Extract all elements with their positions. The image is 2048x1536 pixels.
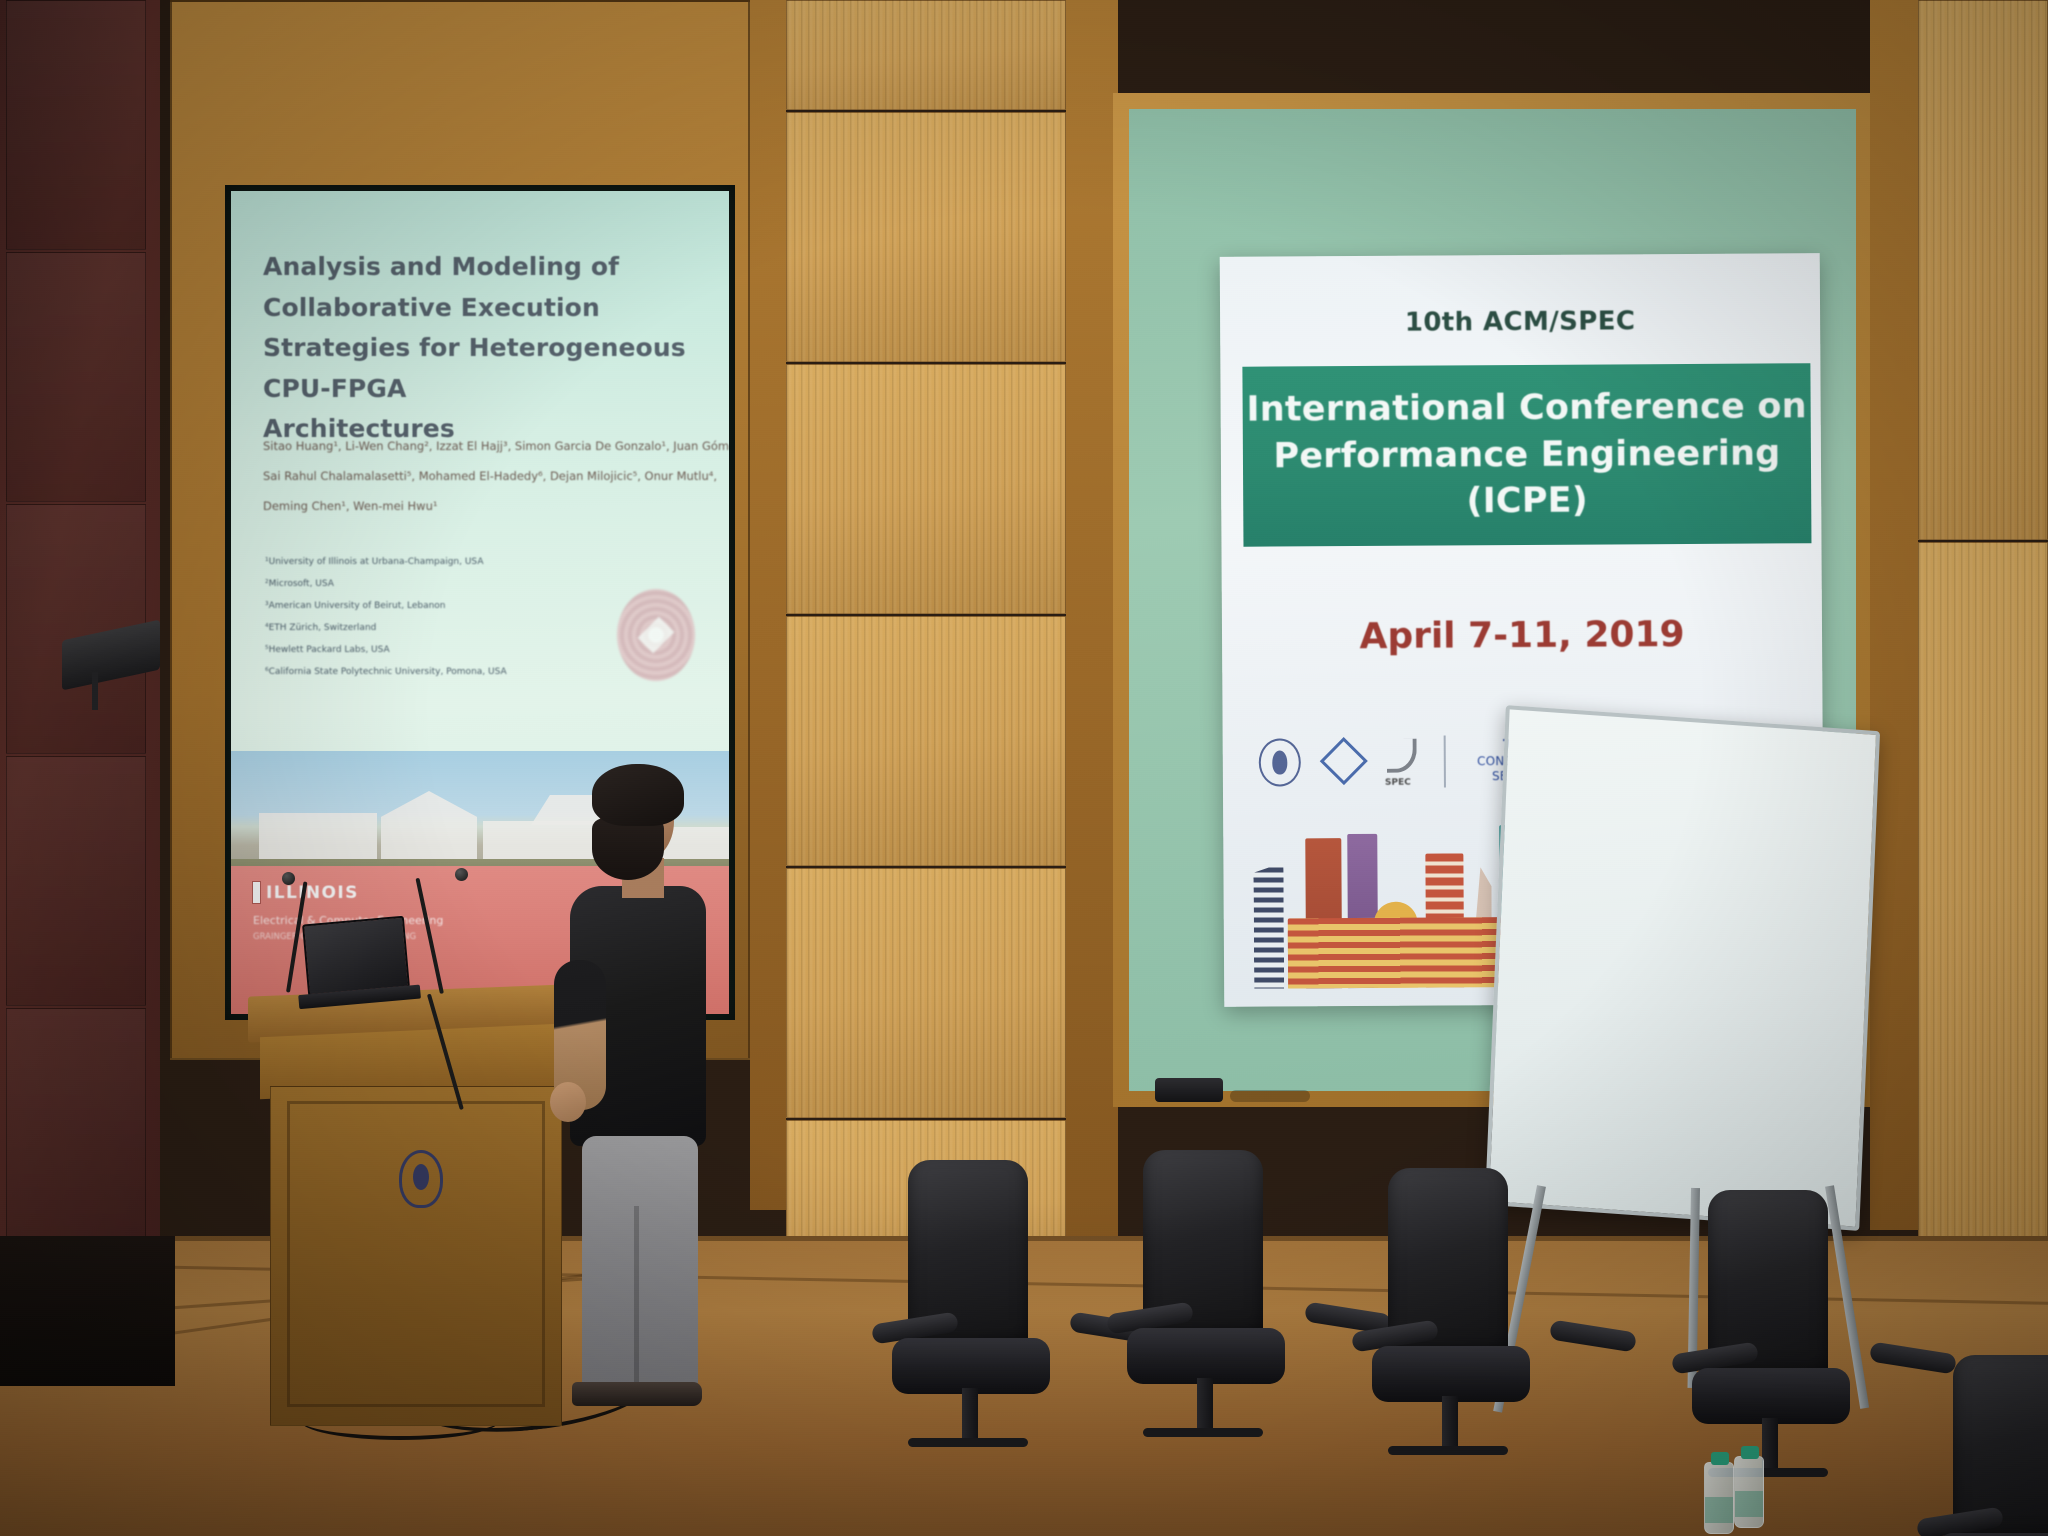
water-bottle[interactable] — [1704, 1462, 1734, 1534]
bottle-label — [1705, 1497, 1733, 1523]
audience-chair[interactable] — [890, 1160, 1140, 1460]
chair-seat — [1127, 1328, 1285, 1384]
chair-seat — [1372, 1346, 1530, 1402]
chair-post — [1197, 1378, 1213, 1434]
wall-acoustic-panel — [786, 112, 1066, 362]
chair-backrest — [1953, 1355, 2048, 1536]
wall-acoustic-panel — [786, 868, 1066, 1118]
audience-chair[interactable] — [1935, 1355, 2048, 1536]
bottle-cap — [1741, 1446, 1759, 1459]
presenter-shoe — [622, 1382, 702, 1406]
presenter-hair — [592, 764, 684, 826]
audience-chair[interactable] — [1370, 1168, 1620, 1468]
wall-wood-column-left — [750, 0, 786, 1210]
laptop-screen — [302, 916, 410, 997]
slide-title: Analysis and Modeling of Collaborative E… — [263, 247, 703, 450]
illinois-i-icon — [253, 882, 260, 903]
wall-acoustic-panel-right — [1918, 0, 2048, 540]
bottle-cap — [1711, 1452, 1729, 1465]
slide-author-line: Deming Chen¹, Wen-mei Hwu¹ — [263, 499, 713, 513]
slide-affiliation: ¹University of Illinois at Urbana-Champa… — [265, 557, 695, 567]
ledge-shadow — [1230, 1090, 1310, 1102]
sponsor-divider — [1444, 735, 1446, 787]
podium-body — [270, 1086, 562, 1426]
wall-acoustic-panel — [786, 364, 1066, 614]
wooden-podium[interactable] — [248, 990, 593, 1440]
slide-affiliation: ²Microsoft, USA — [265, 579, 695, 589]
institute-emblem-icon — [399, 1150, 443, 1208]
slide-title-line-1: Analysis and Modeling of Collaborative E… — [263, 247, 703, 328]
audience-chair[interactable] — [1690, 1190, 1940, 1490]
spec-logo-text: SPEC — [1385, 778, 1411, 788]
wall-acoustic-panel-right — [1918, 542, 2048, 1242]
chair-base — [908, 1438, 1028, 1447]
wall-fixture-arm — [92, 672, 98, 710]
stage-floor-edge-shadow — [0, 1236, 175, 1386]
banner-edition-label: 10th ACM/SPEC — [1220, 305, 1820, 339]
mic-head-icon — [455, 868, 468, 881]
presenter-beard — [592, 818, 664, 880]
chair-post — [1762, 1418, 1778, 1474]
mic-head-icon — [282, 872, 295, 885]
wall-wood-column-right — [1066, 0, 1118, 1250]
banner-title-line-1: International Conference on — [1246, 383, 1807, 433]
whiteboard-surface[interactable] — [1485, 705, 1880, 1231]
chair-post — [1442, 1396, 1458, 1452]
audience-chair[interactable] — [1125, 1150, 1375, 1450]
remote-control[interactable] — [1155, 1078, 1223, 1102]
presenter-hand — [550, 1082, 586, 1122]
slide-title-line-2: Strategies for Heterogeneous CPU-FPGA — [263, 328, 703, 409]
institute-seal-icon — [1259, 738, 1301, 786]
chair-base — [1388, 1446, 1508, 1455]
bottle-label — [1735, 1491, 1763, 1517]
chair-base — [1143, 1428, 1263, 1437]
chair-post — [962, 1388, 978, 1444]
presenter-legs — [582, 1136, 698, 1386]
slide-author-line: Sitao Huang¹, Li-Wen Chang², Izzat El Ha… — [263, 439, 713, 453]
presenter-laptop[interactable] — [302, 916, 410, 997]
screenshot-root: Analysis and Modeling of Collaborative E… — [0, 0, 2048, 1536]
banner-title-line-2: Performance Engineering (ICPE) — [1243, 430, 1812, 527]
slide-author-line: Sai Rahul Chalamalasetti⁵, Mohamed El-Ha… — [263, 469, 713, 483]
wall-acoustic-panel — [786, 0, 1066, 110]
banner-title-band: International Conference on Performance … — [1242, 363, 1811, 546]
spec-logo-icon: SPEC — [1381, 737, 1427, 787]
banner-dates: April 7-11, 2019 — [1222, 613, 1822, 658]
water-bottle[interactable] — [1734, 1456, 1764, 1528]
illinois-wordmark-text: ILLINOIS — [266, 883, 359, 903]
wall-acoustic-panel — [786, 616, 1066, 866]
university-seal-icon — [617, 589, 695, 681]
presenter — [548, 770, 738, 1400]
chair-seat — [1692, 1368, 1850, 1424]
chair-seat — [892, 1338, 1050, 1394]
acm-diamond-icon — [1318, 739, 1364, 785]
